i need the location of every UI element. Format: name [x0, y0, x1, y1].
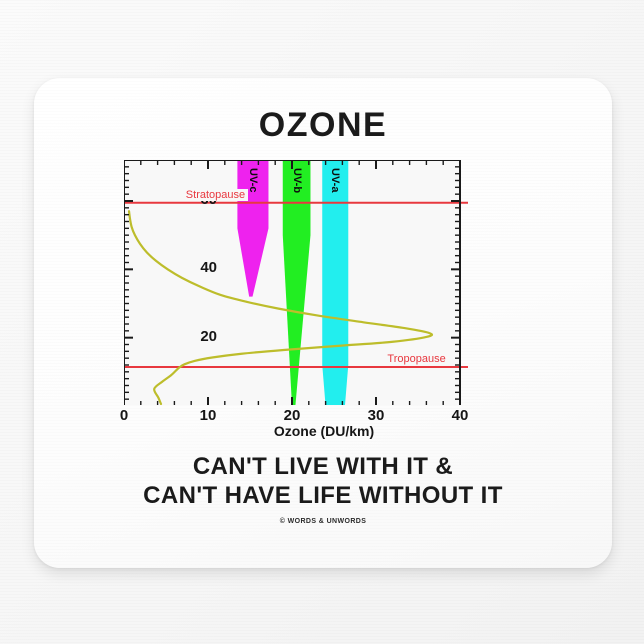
reference-label-stratopause: Stratopause: [183, 189, 248, 201]
x-tick-label-30: 30: [356, 407, 396, 424]
x-tick-label-40: 40: [440, 407, 480, 424]
tagline-line-2: CAN'T HAVE LIFE WITHOUT IT: [34, 481, 612, 510]
x-tick-label-0: 0: [104, 407, 144, 424]
uv-band-label-uv-a: UV-a: [329, 168, 341, 192]
page-title: OZONE: [34, 106, 612, 145]
y-tick-label-20: 20: [177, 328, 217, 345]
credit-line: © WORDS & UNWORDS: [34, 518, 612, 525]
uv-band-uv-a: [322, 160, 348, 405]
mousepad-design: OZONE Altitude (km) Ozone (DU/km): [34, 78, 612, 568]
tagline: CAN'T LIVE WITH IT & CAN'T HAVE LIFE WIT…: [34, 452, 612, 510]
x-tick-label-10: 10: [188, 407, 228, 424]
chart-x-axis-label: Ozone (DU/km): [124, 423, 524, 439]
y-tick-label-40: 40: [177, 259, 217, 276]
screenshot-canvas: OZONE Altitude (km) Ozone (DU/km): [0, 0, 644, 644]
uv-band-label-uv-c: UV-c: [247, 168, 259, 192]
x-tick-label-20: 20: [272, 407, 312, 424]
reference-label-tropopause: Tropopause: [384, 353, 448, 365]
tagline-line-1: CAN'T LIVE WITH IT &: [34, 452, 612, 481]
ozone-chart: Altitude (km) Ozone (DU/km) 204060 0102: [124, 160, 524, 440]
uv-band-label-uv-b: UV-b: [291, 168, 303, 193]
